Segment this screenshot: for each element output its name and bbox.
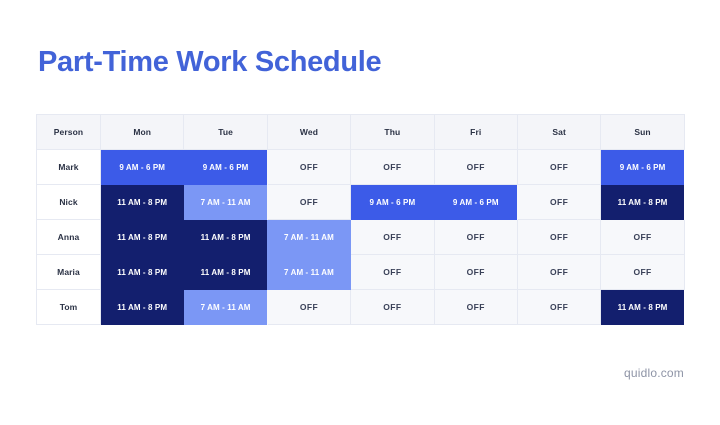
shift-cell-off[interactable]: OFF — [267, 290, 350, 325]
schedule-page: Part-Time Work Schedule PersonMonTueWedT… — [0, 0, 720, 425]
shift-cell-off[interactable]: OFF — [517, 255, 600, 290]
shift-cell[interactable]: 9 AM - 6 PM — [351, 185, 434, 220]
table-row: Tom11 AM - 8 PM7 AM - 11 AMOFFOFFOFFOFF1… — [37, 290, 685, 325]
shift-cell[interactable]: 7 AM - 11 AM — [267, 220, 350, 255]
shift-cell-off[interactable]: OFF — [434, 255, 517, 290]
table-header-row: PersonMonTueWedThuFriSatSun — [37, 115, 685, 150]
shift-cell-off[interactable]: OFF — [517, 185, 600, 220]
shift-cell-off[interactable]: OFF — [434, 290, 517, 325]
shift-cell-off[interactable]: OFF — [517, 150, 600, 185]
table-row: Anna11 AM - 8 PM11 AM - 8 PM7 AM - 11 AM… — [37, 220, 685, 255]
person-name-cell: Mark — [37, 150, 101, 185]
column-header-mon: Mon — [101, 115, 184, 150]
shift-cell-off[interactable]: OFF — [267, 150, 350, 185]
shift-cell[interactable]: 7 AM - 11 AM — [184, 290, 267, 325]
shift-cell-off[interactable]: OFF — [351, 150, 434, 185]
shift-cell-off[interactable]: OFF — [351, 220, 434, 255]
brand-watermark: quidlo.com — [624, 366, 684, 380]
shift-cell[interactable]: 11 AM - 8 PM — [101, 255, 184, 290]
column-header-person: Person — [37, 115, 101, 150]
person-name-cell: Tom — [37, 290, 101, 325]
shift-cell[interactable]: 9 AM - 6 PM — [601, 150, 684, 185]
person-name-cell: Nick — [37, 185, 101, 220]
shift-cell-off[interactable]: OFF — [517, 290, 600, 325]
table-body: Mark9 AM - 6 PM9 AM - 6 PMOFFOFFOFFOFF9 … — [37, 150, 685, 325]
shift-cell[interactable]: 11 AM - 8 PM — [184, 255, 267, 290]
shift-cell[interactable]: 11 AM - 8 PM — [601, 185, 684, 220]
table-head: PersonMonTueWedThuFriSatSun — [37, 115, 685, 150]
table-row: Maria11 AM - 8 PM11 AM - 8 PM7 AM - 11 A… — [37, 255, 685, 290]
schedule-table: PersonMonTueWedThuFriSatSun Mark9 AM - 6… — [36, 114, 685, 325]
column-header-sat: Sat — [517, 115, 600, 150]
shift-cell[interactable]: 7 AM - 11 AM — [184, 185, 267, 220]
shift-cell[interactable]: 11 AM - 8 PM — [101, 185, 184, 220]
table-row: Mark9 AM - 6 PM9 AM - 6 PMOFFOFFOFFOFF9 … — [37, 150, 685, 185]
column-header-fri: Fri — [434, 115, 517, 150]
shift-cell-off[interactable]: OFF — [601, 255, 684, 290]
person-name-cell: Maria — [37, 255, 101, 290]
shift-cell[interactable]: 9 AM - 6 PM — [101, 150, 184, 185]
shift-cell-off[interactable]: OFF — [351, 290, 434, 325]
shift-cell[interactable]: 11 AM - 8 PM — [101, 220, 184, 255]
shift-cell-off[interactable]: OFF — [434, 150, 517, 185]
column-header-tue: Tue — [184, 115, 267, 150]
schedule-table-container: PersonMonTueWedThuFriSatSun Mark9 AM - 6… — [36, 114, 684, 325]
shift-cell[interactable]: 9 AM - 6 PM — [434, 185, 517, 220]
shift-cell-off[interactable]: OFF — [601, 220, 684, 255]
shift-cell[interactable]: 11 AM - 8 PM — [601, 290, 684, 325]
shift-cell-off[interactable]: OFF — [267, 185, 350, 220]
column-header-sun: Sun — [601, 115, 684, 150]
shift-cell[interactable]: 11 AM - 8 PM — [184, 220, 267, 255]
table-row: Nick11 AM - 8 PM7 AM - 11 AMOFF9 AM - 6 … — [37, 185, 685, 220]
shift-cell[interactable]: 11 AM - 8 PM — [101, 290, 184, 325]
shift-cell-off[interactable]: OFF — [517, 220, 600, 255]
shift-cell[interactable]: 9 AM - 6 PM — [184, 150, 267, 185]
column-header-wed: Wed — [267, 115, 350, 150]
shift-cell-off[interactable]: OFF — [434, 220, 517, 255]
column-header-thu: Thu — [351, 115, 434, 150]
shift-cell[interactable]: 7 AM - 11 AM — [267, 255, 350, 290]
person-name-cell: Anna — [37, 220, 101, 255]
shift-cell-off[interactable]: OFF — [351, 255, 434, 290]
page-title: Part-Time Work Schedule — [38, 44, 381, 80]
